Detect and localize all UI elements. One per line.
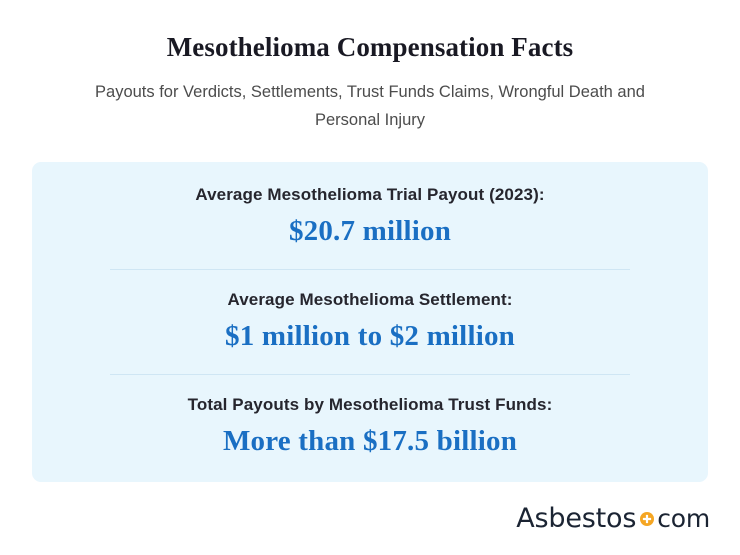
fact-label: Total Payouts by Mesothelioma Trust Fund… [72, 393, 668, 417]
footer: Asbestos com [516, 498, 710, 538]
orange-cross-dot-icon [640, 502, 654, 516]
asbestos-com-logo[interactable]: Asbestos com [516, 503, 710, 534]
facts-card: Average Mesothelioma Trial Payout (2023)… [32, 162, 708, 482]
fact-item: Total Payouts by Mesothelioma Trust Fund… [32, 393, 708, 461]
fact-value: $20.7 million [72, 211, 668, 251]
fact-item: Average Mesothelioma Settlement: $1 mill… [32, 288, 708, 356]
fact-item: Average Mesothelioma Trial Payout (2023)… [32, 183, 708, 251]
logo-tld-text: com [657, 504, 710, 533]
fact-value: $1 million to $2 million [72, 316, 668, 356]
fact-value: More than $17.5 billion [72, 421, 668, 461]
fact-label: Average Mesothelioma Trial Payout (2023)… [72, 183, 668, 207]
page-title: Mesothelioma Compensation Facts [0, 30, 740, 64]
infographic-root: Mesothelioma Compensation Facts Payouts … [0, 0, 740, 555]
fact-divider [110, 374, 630, 375]
fact-label: Average Mesothelioma Settlement: [72, 288, 668, 312]
page-subtitle: Payouts for Verdicts, Settlements, Trust… [85, 78, 655, 134]
logo-brand-text: Asbestos [516, 503, 636, 534]
header: Mesothelioma Compensation Facts Payouts … [0, 0, 740, 134]
fact-divider [110, 269, 630, 270]
